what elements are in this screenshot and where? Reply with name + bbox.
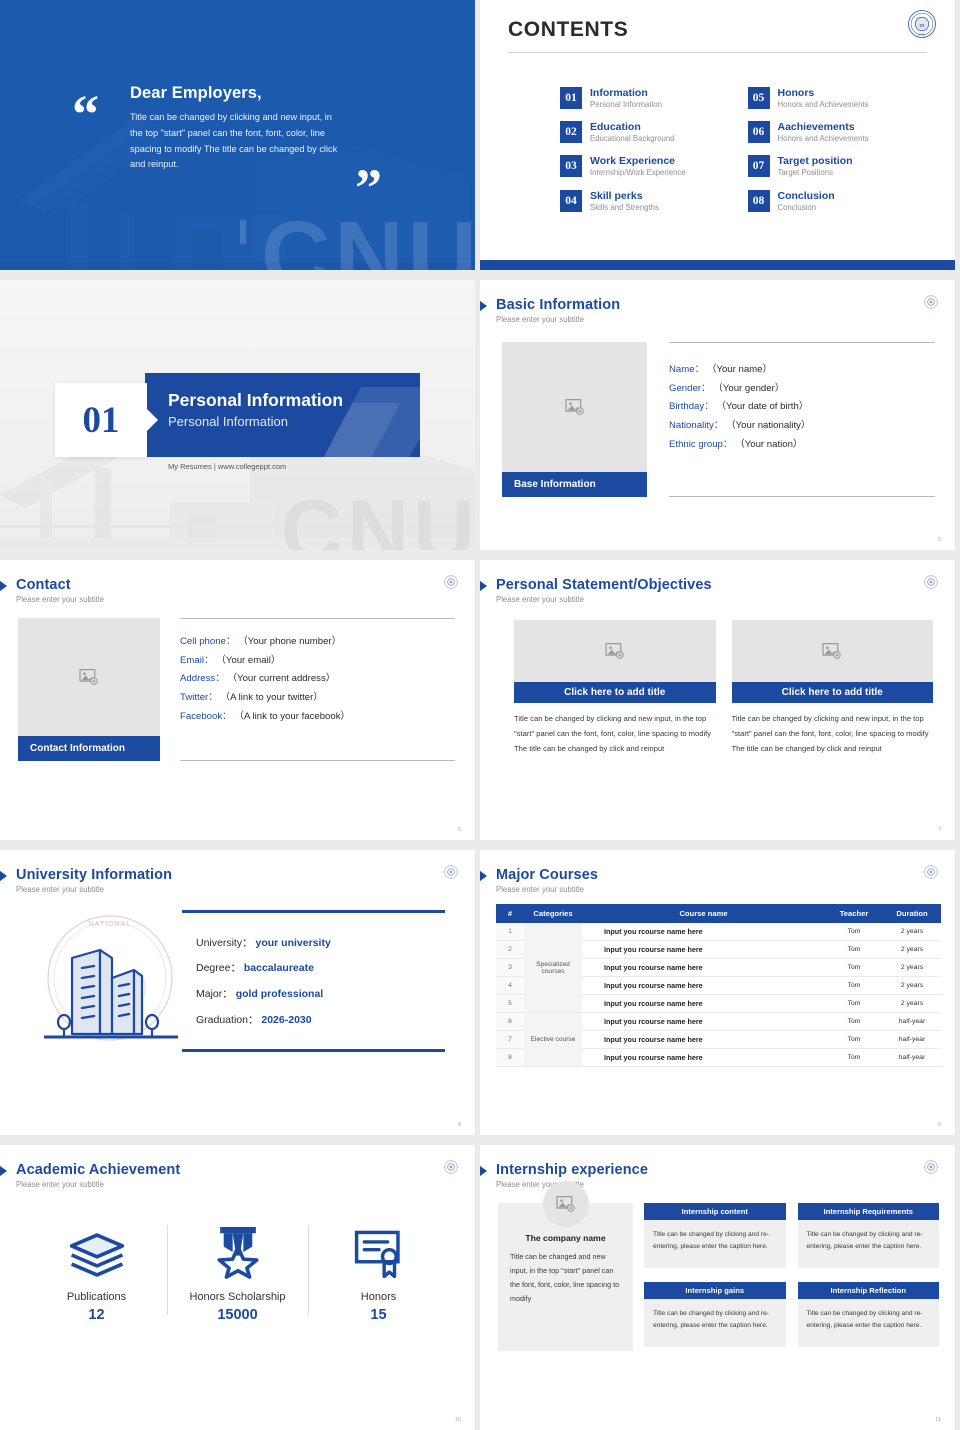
internship-card: Internship Requirements Title can be cha… [798,1203,940,1273]
toc-item[interactable]: 01 Information Personal Information [560,87,724,110]
triangle-bullet-icon [480,298,487,314]
toc-label: Honors [778,87,869,99]
add-title-button[interactable]: Click here to add title [732,682,934,703]
internship-card: Internship content Title can be changed … [644,1203,786,1273]
cell-duration: 2 years [883,923,941,941]
gear-icon[interactable] [923,1159,939,1175]
toc-item[interactable]: 02 Education Educational Background [560,121,724,144]
cell-category: Elective course [524,1013,582,1067]
toc-sublabel: Educational Background [590,134,675,144]
toc-sublabel: Skills and Strengths [590,203,659,213]
field-value: （Your date of birth） [716,401,808,412]
university-value: baccalaureate [244,962,314,974]
table-header-row: # Categories Course name Teacher Duratio… [496,904,941,923]
cell-teacher: Tom [825,977,883,995]
cell-teacher: Tom [825,1013,883,1031]
card-body: Title can be changed by clicking and re-… [798,1220,940,1268]
svg-text:m: m [919,22,925,29]
toc-item[interactable]: 04 Skill perks Skills and Strengths [560,190,724,213]
toc-item[interactable]: 03 Work Experience Internship/Work Exper… [560,155,724,178]
books-icon [26,1217,167,1279]
toc-number: 04 [560,190,582,212]
card-body: Title can be changed by clicking and re-… [644,1220,786,1268]
slide-deck: CNU “ ” Dear Employers, Title can be cha… [0,0,960,1430]
col-course: Course name [582,904,825,923]
page-subtitle: Please enter your subtitle [16,885,475,894]
svg-text:NATIONAL: NATIONAL [89,921,132,928]
statement-card: Click here to add title Title can be cha… [732,620,934,756]
page-subtitle: Please enter your subtitle [496,885,955,894]
cell-teacher: Tom [825,1031,883,1049]
toc-number: 05 [748,87,770,109]
cell-course: Input you rcourse name here [582,941,825,959]
university-row: University： your university [196,931,445,957]
field-key: Birthday： [669,401,714,412]
field-key: Nationality： [669,420,723,431]
cover-body: Title can be changed by clicking and new… [130,110,345,173]
achievement-stats: Publications 12 Honors Scholarship 15000 [0,1189,475,1323]
statement-card: Click here to add title Title can be cha… [514,620,716,756]
toc-label: Aachievements [778,121,869,133]
page-title: Academic Achievement [16,1162,475,1178]
cell-index: 1 [496,923,524,941]
field-key: Email： [180,655,214,666]
toc-number: 01 [560,87,582,109]
university-row: Major： gold professional [196,982,445,1008]
cell-category: Specialized courses [524,923,582,1013]
internship-card: Internship gains Title can be changed by… [644,1282,786,1352]
page-title: Basic Information [496,297,955,313]
page-subtitle: Please enter your subtitle [496,595,955,604]
toc-number: 02 [560,121,582,143]
triangle-bullet-icon [480,578,487,594]
image-placeholder[interactable] [732,620,934,682]
card-header: Internship Requirements [798,1203,940,1220]
cell-course: Input you rcourse name here [582,1013,825,1031]
quote-open-icon: “ [72,96,99,134]
contact-body: Contact Information Cell phone： （Your ph… [0,604,475,761]
page-subtitle: Please enter your subtitle [16,1180,475,1189]
university-key: Degree： [196,962,241,974]
quote-close-icon: ” [355,170,382,208]
contents-divider [508,52,927,53]
cell-index: 2 [496,941,524,959]
toc-item[interactable]: 06 Aachievements Honors and Achievements [748,121,912,144]
toc-item[interactable]: 08 Conclusion Conclusion [748,190,912,213]
slide-header: Basic Information Please enter your subt… [480,280,955,324]
image-placeholder[interactable] [514,620,716,682]
contact-field-list: Cell phone： （Your phone number） Email： （… [180,618,455,761]
divider-number: 01 [55,383,147,457]
toc-label: Target position [778,155,853,167]
university-key: Graduation： [196,1014,258,1026]
internship-card: Internship Reflection Title can be chang… [798,1282,940,1352]
slide-header: Major Courses Please enter your subtitle [480,850,955,894]
photo-card[interactable]: Contact Information [18,618,160,761]
field-row: Address： （Your current address） [180,670,451,689]
toc-number: 08 [748,190,770,212]
field-row: Cell phone： （Your phone number） [180,633,451,652]
university-row: Degree： baccalaureate [196,956,445,982]
company-logo-placeholder[interactable] [543,1181,589,1227]
field-value: （A link to your twitter） [221,692,323,703]
add-image-icon [556,1195,576,1213]
card-header: Internship content [644,1203,786,1220]
cell-index: 3 [496,959,524,977]
cell-course: Input you rcourse name here [582,959,825,977]
divider-title: Personal Information [168,390,343,411]
slide-section-divider: CNU 01 Personal Information Personal Inf… [0,280,475,550]
page-number: 7 [938,827,941,833]
cell-course: Input you rcourse name here [582,1049,825,1067]
page-number: 10 [455,1417,461,1423]
cell-duration: half-year [883,1049,941,1067]
university-row: Graduation： 2026-2030 [196,1008,445,1034]
toc-sublabel: Conclusion [778,203,835,213]
toc-label: Work Experience [590,155,686,167]
page-number: 5 [938,537,941,543]
toc-number: 06 [748,121,770,143]
col-teacher: Teacher [825,904,883,923]
cell-teacher: Tom [825,1049,883,1067]
field-key: Gender： [669,383,711,394]
basic-field-list: Name： （Your name） Gender： （Your gender） … [669,342,935,497]
page-subtitle: Please enter your subtitle [16,595,475,604]
col-category: Categories [524,904,582,923]
field-value: （Your email） [216,655,280,666]
gear-icon[interactable] [443,574,459,590]
cell-course: Input you rcourse name here [582,977,825,995]
stat-label: Honors [308,1291,449,1303]
page-number: 11 [935,1417,941,1423]
toc-sublabel: Personal Information [590,100,662,110]
company-description: Title can be changed and new input, in t… [510,1250,621,1306]
divider-text: Personal Information Personal Informatio… [168,390,343,429]
table-row: 6 Elective course Input you rcourse name… [496,1013,941,1031]
university-key: University： [196,937,253,949]
slide-header: University Information Please enter your… [0,850,475,894]
page-subtitle: Please enter your subtitle [496,315,955,324]
gear-icon[interactable] [923,864,939,880]
add-image-icon [822,642,842,660]
add-image-icon [565,398,585,416]
stat-item: Honors 15 [308,1217,449,1323]
slide-cover: CNU “ ” Dear Employers, Title can be cha… [0,0,475,270]
toc-label: Information [590,87,662,99]
triangle-bullet-icon [0,578,7,594]
divider-watermark: CNU [281,488,475,550]
cell-teacher: Tom [825,995,883,1013]
toc-item[interactable]: 05 Honors Honors and Achievements [748,87,912,110]
col-index: # [496,904,524,923]
add-image-icon [605,642,625,660]
field-value: （Your gender） [713,383,784,394]
university-seal-icon: m 1952 [907,9,937,39]
divider-footer: My Resumes | www.collegeppt.com [168,462,286,471]
toc-number: 03 [560,155,582,177]
table-row: 1 Specialized courses Input you rcourse … [496,923,941,941]
card-body: Title can be changed by clicking and re-… [798,1299,940,1347]
campus-buildings-icon: NATIONAL UNIVERSITY [38,906,188,1056]
cell-index: 6 [496,1013,524,1031]
stat-value: 12 [26,1307,167,1323]
cover-text-block: Dear Employers, Title can be changed by … [130,84,345,173]
contents-list: 01 Information Personal Information 05 H… [508,87,927,213]
toc-sublabel: Internship/Work Experience [590,168,686,178]
slide-major-courses: Major Courses Please enter your subtitle… [480,850,955,1135]
field-value: （Your nation） [735,439,802,450]
gear-icon[interactable] [443,864,459,880]
page-title: Personal Statement/Objectives [496,577,955,593]
cell-index: 8 [496,1049,524,1067]
university-value: your university [256,937,331,949]
field-row: Ethnic group： （Your nation） [669,436,931,455]
field-row: Twitter： （A link to your twitter） [180,689,451,708]
triangle-bullet-icon [0,1163,7,1179]
field-row: Nationality： （Your nationality） [669,417,931,436]
cell-duration: 2 years [883,959,941,977]
triangle-bullet-icon [0,868,7,884]
stat-value: 15 [308,1307,449,1323]
toc-label: Conclusion [778,190,835,202]
university-key: Major： [196,988,233,1000]
cell-course: Input you rcourse name here [582,995,825,1013]
contents-title: CONTENTS [508,18,927,42]
photo-placeholder[interactable] [18,618,160,736]
statement-body: Title can be changed by clicking and new… [732,712,934,756]
card-body: Title can be changed by clicking and re-… [644,1299,786,1347]
cell-course: Input you rcourse name here [582,923,825,941]
cell-duration: half-year [883,1013,941,1031]
slide-university-information: University Information Please enter your… [0,850,475,1135]
slide-basic-information: Basic Information Please enter your subt… [480,280,955,550]
field-value: （Your name） [707,364,772,375]
cell-teacher: Tom [825,923,883,941]
slide-personal-statement: Personal Statement/Objectives Please ent… [480,560,955,840]
certificate-icon [308,1217,449,1279]
field-value: （Your nationality） [726,420,810,431]
slide-contents: CONTENTS m 1952 01 Information Personal … [480,0,955,270]
field-key: Ethnic group： [669,439,732,450]
card-header: Internship Reflection [798,1282,940,1299]
university-value: gold professional [236,988,324,1000]
add-image-icon [79,668,99,686]
field-key: Facebook： [180,711,232,722]
field-row: Birthday： （Your date of birth） [669,398,931,417]
field-row: Facebook： （A link to your facebook） [180,708,451,727]
cell-index: 7 [496,1031,524,1049]
divider-subtitle: Personal Information [168,414,343,429]
stat-label: Honors Scholarship [167,1291,308,1303]
slide-header: Internship experience Please enter your … [480,1145,955,1189]
field-key: Address： [180,673,225,684]
photo-caption: Contact Information [18,736,160,761]
field-value: （Your phone number） [238,636,341,647]
contents-bottom-band [480,260,955,270]
gear-icon[interactable] [443,1159,459,1175]
statement-body: Title can be changed by clicking and new… [514,712,716,756]
slide-academic-achievement: Academic Achievement Please enter your s… [0,1145,475,1430]
page-number: 9 [938,1122,941,1128]
courses-table: # Categories Course name Teacher Duratio… [496,904,941,1067]
field-row: Name： （Your name） [669,361,931,380]
cell-course: Input you rcourse name here [582,1031,825,1049]
courses-table-wrapper: # Categories Course name Teacher Duratio… [480,894,955,1067]
cover-heading: Dear Employers, [130,84,345,103]
page-title: University Information [16,867,475,883]
field-value: （Your current address） [227,673,335,684]
field-key: Twitter： [180,692,218,703]
stat-item: Honors Scholarship 15000 [167,1217,308,1323]
field-row: Email： （Your email） [180,652,451,671]
gear-icon[interactable] [923,574,939,590]
toc-sublabel: Honors and Achievements [778,100,869,110]
page-title: Major Courses [496,867,955,883]
field-key: Cell phone： [180,636,235,647]
university-body: NATIONAL UNIVERSITY [0,894,475,1056]
page-title: Contact [16,577,475,593]
cell-teacher: Tom [825,959,883,977]
cell-index: 5 [496,995,524,1013]
slide-header: Personal Statement/Objectives Please ent… [480,560,955,604]
field-key: Name： [669,364,704,375]
slide-internship-experience: Internship experience Please enter your … [480,1145,955,1430]
university-fields: University： your university Degree： bacc… [182,910,445,1053]
gear-icon[interactable] [923,294,939,310]
company-name: The company name [510,1233,621,1243]
page-title: Internship experience [496,1162,955,1178]
card-header: Internship gains [644,1282,786,1299]
slide-contact: Contact Please enter your subtitle [0,560,475,840]
field-value: （A link to your facebook） [234,711,350,722]
internship-body: The company name Title can be changed an… [480,1189,955,1351]
col-duration: Duration [883,904,941,923]
internship-cards: Internship content Title can be changed … [644,1203,939,1351]
medal-icon [167,1217,308,1279]
university-illustration: NATIONAL UNIVERSITY [38,906,188,1056]
photo-caption: Base Information [502,472,647,497]
page-number: 8 [458,1122,461,1128]
photo-card[interactable]: Base Information [502,342,647,497]
cell-duration: half-year [883,1031,941,1049]
stat-value: 15000 [167,1307,308,1323]
slide-header: Contact Please enter your subtitle [0,560,475,604]
toc-sublabel: Honors and Achievements [778,134,869,144]
toc-number: 07 [748,155,770,177]
toc-label: Education [590,121,675,133]
toc-item[interactable]: 07 Target position Target Positions [748,155,912,178]
triangle-bullet-icon [480,1163,487,1179]
triangle-bullet-icon [480,868,487,884]
basic-info-body: Base Information Name： （Your name） Gende… [480,324,955,497]
cell-duration: 2 years [883,941,941,959]
toc-label: Skill perks [590,190,659,202]
add-title-button[interactable]: Click here to add title [514,682,716,703]
field-row: Gender： （Your gender） [669,380,931,399]
cell-duration: 2 years [883,977,941,995]
svg-text:1952: 1952 [919,32,926,36]
cell-teacher: Tom [825,941,883,959]
page-number: 6 [458,827,461,833]
stat-label: Publications [26,1291,167,1303]
stat-item: Publications 12 [26,1217,167,1323]
university-value: 2026-2030 [261,1014,311,1026]
cell-index: 4 [496,977,524,995]
cell-duration: 2 years [883,995,941,1013]
company-card: The company name Title can be changed an… [498,1203,633,1351]
toc-sublabel: Target Positions [778,168,853,178]
slide-header: Academic Achievement Please enter your s… [0,1145,475,1189]
statement-columns: Click here to add title Title can be cha… [480,604,955,756]
photo-placeholder[interactable] [502,342,647,472]
